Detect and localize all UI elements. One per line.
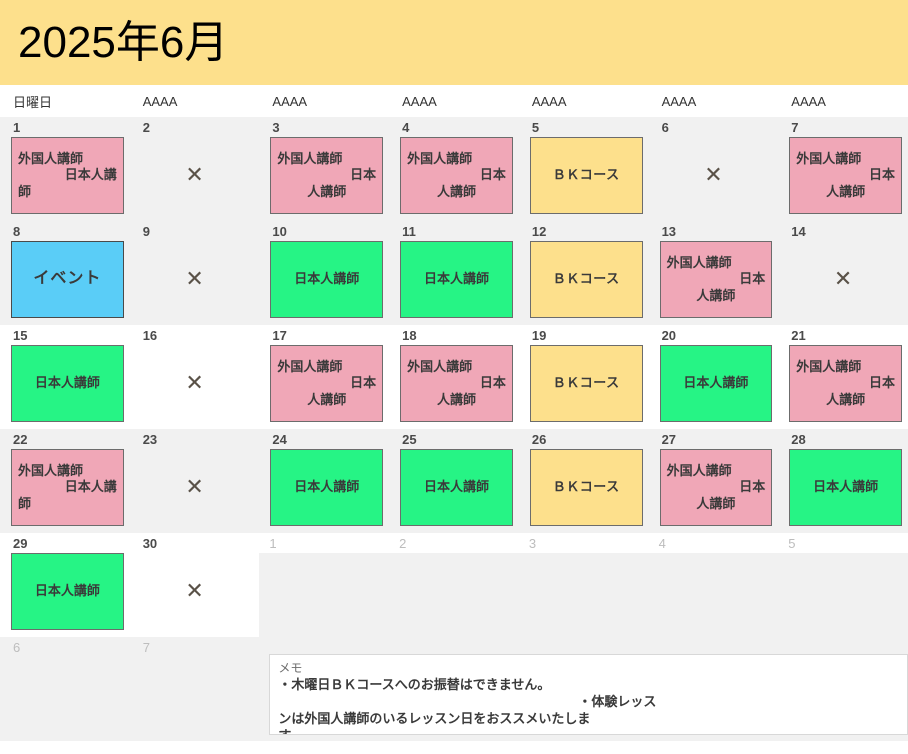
event-line: 日本 xyxy=(796,167,895,184)
event-block[interactable]: ＢＫコース xyxy=(530,449,643,526)
event-line: 日本人講師 xyxy=(277,271,376,288)
day-number: 15 xyxy=(3,325,127,345)
event-line: 日本 xyxy=(667,271,766,288)
calendar-grid: 1外国人講師日本人講師2✕3外国人講師日本人講師4外国人講師日本人講師5ＢＫコー… xyxy=(0,117,908,741)
event-block[interactable]: 外国人講師日本人講師 xyxy=(400,345,513,422)
memo-line: ・体験レッス xyxy=(278,693,656,710)
day-cell-30[interactable]: 30✕ xyxy=(130,533,260,637)
event-line: 外国人講師 xyxy=(667,255,766,272)
event-block[interactable]: 外国人講師日本人講師 xyxy=(270,137,383,214)
day-number: 6 xyxy=(3,637,127,657)
day-number: 24 xyxy=(262,429,386,449)
day-number: 27 xyxy=(652,429,776,449)
event-block[interactable]: 日本人講師 xyxy=(11,345,124,422)
page-title: 2025年6月 xyxy=(18,21,228,65)
event-line: 日本 xyxy=(277,375,376,392)
event-line: 人講師 xyxy=(796,392,895,409)
event-block[interactable]: 外国人講師日本人講師 xyxy=(11,137,124,214)
close-icon: ✕ xyxy=(185,164,203,186)
day-number: 6 xyxy=(652,117,776,137)
event-block[interactable]: 日本人講師 xyxy=(660,345,773,422)
memo-label: メモ xyxy=(278,661,899,676)
event-block[interactable]: 日本人講師 xyxy=(270,241,383,318)
day-cell-16[interactable]: 16✕ xyxy=(130,325,260,429)
weekday-header-4: AAAA xyxy=(519,85,649,117)
day-number: 10 xyxy=(262,221,386,241)
closed-day-marker: ✕ xyxy=(652,137,776,221)
memo-box[interactable]: メモ・木曜日ＢＫコースへのお振替はできません。・体験レッスンは外国人講師のいるレ… xyxy=(269,654,908,735)
event-line: 日本人講師 xyxy=(18,583,117,600)
event-block[interactable]: ＢＫコース xyxy=(530,137,643,214)
event-line: 日本人講師 xyxy=(667,375,766,392)
weekday-header-6: AAAA xyxy=(778,85,908,117)
event-line: 人講師 xyxy=(796,184,895,201)
event-block[interactable]: 外国人講師日本人講師 xyxy=(270,345,383,422)
closed-day-marker: ✕ xyxy=(133,345,257,429)
memo-line: す。 xyxy=(278,727,656,735)
close-icon: ✕ xyxy=(185,476,203,498)
event-line: 外国人講師 xyxy=(18,151,117,168)
closed-day-marker: ✕ xyxy=(133,553,257,637)
day-number: 4 xyxy=(392,117,516,137)
event-line: 外国人講師 xyxy=(796,151,895,168)
event-line: 日本 xyxy=(667,479,766,496)
next-month-fill xyxy=(778,553,908,637)
day-number: 2 xyxy=(389,533,519,553)
day-number: 1 xyxy=(3,117,127,137)
event-line: 外国人講師 xyxy=(667,463,766,480)
calendar-week-row: 29日本人講師30✕12345 xyxy=(0,533,908,637)
day-cell-28[interactable]: 28日本人講師 xyxy=(778,429,908,533)
day-number: 29 xyxy=(3,533,127,553)
day-cell-17[interactable]: 17外国人講師日本人講師 xyxy=(259,325,389,429)
close-icon: ✕ xyxy=(185,580,203,602)
day-cell-9[interactable]: 9✕ xyxy=(130,221,260,325)
day-number: 4 xyxy=(649,533,779,553)
next-month-day-cell-3[interactable]: 3 xyxy=(519,533,649,637)
event-line: 外国人講師 xyxy=(18,463,117,480)
closed-day-marker: ✕ xyxy=(133,449,257,533)
day-number: 17 xyxy=(262,325,386,345)
day-number: 11 xyxy=(392,221,516,241)
day-cell-24[interactable]: 24日本人講師 xyxy=(259,429,389,533)
event-line: 外国人講師 xyxy=(407,359,506,376)
day-cell-11[interactable]: 11日本人講師 xyxy=(389,221,519,325)
event-line: 外国人講師 xyxy=(277,359,376,376)
day-cell-10[interactable]: 10日本人講師 xyxy=(259,221,389,325)
calendar-week-row: 22外国人講師日本人講師23✕24日本人講師25日本人講師26ＢＫコース27外国… xyxy=(0,429,908,533)
day-number: 1 xyxy=(259,533,389,553)
event-block[interactable]: ＢＫコース xyxy=(530,241,643,318)
day-number: 7 xyxy=(133,637,257,657)
day-cell-18[interactable]: 18外国人講師日本人講師 xyxy=(389,325,519,429)
event-line: ＢＫコース xyxy=(537,375,636,392)
close-icon: ✕ xyxy=(185,372,203,394)
day-cell-21[interactable]: 21外国人講師日本人講師 xyxy=(778,325,908,429)
event-line: 師 xyxy=(18,496,117,513)
event-block[interactable]: イベント xyxy=(11,241,124,318)
calendar-week-row: 15日本人講師16✕17外国人講師日本人講師18外国人講師日本人講師19ＢＫコー… xyxy=(0,325,908,429)
event-line: 人講師 xyxy=(667,496,766,513)
weekday-header-2: AAAA xyxy=(259,85,389,117)
day-number: 20 xyxy=(652,325,776,345)
day-cell-27[interactable]: 27外国人講師日本人講師 xyxy=(649,429,779,533)
event-line: 日本人講 xyxy=(18,167,117,184)
event-block[interactable]: 外国人講師日本人講師 xyxy=(660,449,773,526)
event-line: 日本 xyxy=(796,375,895,392)
next-month-day-cell-7[interactable]: 7 xyxy=(130,637,260,741)
day-number: 14 xyxy=(781,221,905,241)
event-line: ＢＫコース xyxy=(537,479,636,496)
event-line: 日本人講師 xyxy=(277,479,376,496)
day-cell-19[interactable]: 19ＢＫコース xyxy=(519,325,649,429)
day-cell-5[interactable]: 5ＢＫコース xyxy=(519,117,649,221)
event-line: 日本人講師 xyxy=(407,479,506,496)
event-block[interactable]: 日本人講師 xyxy=(400,241,513,318)
next-month-day-cell-6[interactable]: 6 xyxy=(0,637,130,741)
day-number: 18 xyxy=(392,325,516,345)
next-month-day-cell-1[interactable]: 1 xyxy=(259,533,389,637)
calendar-week-row: 8イベント9✕10日本人講師11日本人講師12ＢＫコース13外国人講師日本人講師… xyxy=(0,221,908,325)
day-number: 22 xyxy=(3,429,127,449)
event-line: 日本人講師 xyxy=(18,375,117,392)
day-cell-4[interactable]: 4外国人講師日本人講師 xyxy=(389,117,519,221)
event-block[interactable]: ＢＫコース xyxy=(530,345,643,422)
event-line: 師 xyxy=(18,184,117,201)
event-line: 外国人講師 xyxy=(796,359,895,376)
event-block[interactable]: 日本人講師 xyxy=(270,449,383,526)
memo-week-row: 67メモ・木曜日ＢＫコースへのお振替はできません。・体験レッスンは外国人講師のい… xyxy=(0,637,908,741)
day-cell-29[interactable]: 29日本人講師 xyxy=(0,533,130,637)
day-number: 3 xyxy=(262,117,386,137)
close-icon: ✕ xyxy=(834,268,852,290)
day-cell-20[interactable]: 20日本人講師 xyxy=(649,325,779,429)
closed-day-marker: ✕ xyxy=(133,241,257,325)
next-month-fill xyxy=(389,553,519,637)
event-line: 人講師 xyxy=(277,392,376,409)
event-line: 日本人講師 xyxy=(407,271,506,288)
day-cell-13[interactable]: 13外国人講師日本人講師 xyxy=(649,221,779,325)
calendar-week-row: 1外国人講師日本人講師2✕3外国人講師日本人講師4外国人講師日本人講師5ＢＫコー… xyxy=(0,117,908,221)
day-cell-25[interactable]: 25日本人講師 xyxy=(389,429,519,533)
event-line: 人講師 xyxy=(277,184,376,201)
next-month-fill xyxy=(519,553,649,637)
day-number: 5 xyxy=(778,533,908,553)
day-cell-8[interactable]: 8イベント xyxy=(0,221,130,325)
day-number: 2 xyxy=(133,117,257,137)
event-block[interactable]: 外国人講師日本人講師 xyxy=(789,137,902,214)
event-line: 人講師 xyxy=(667,288,766,305)
day-cell-1[interactable]: 1外国人講師日本人講師 xyxy=(0,117,130,221)
day-number: 12 xyxy=(522,221,646,241)
day-cell-14[interactable]: 14✕ xyxy=(778,221,908,325)
day-cell-15[interactable]: 15日本人講師 xyxy=(0,325,130,429)
event-line: 日本 xyxy=(407,167,506,184)
event-line: 人講師 xyxy=(407,184,506,201)
day-cell-22[interactable]: 22外国人講師日本人講師 xyxy=(0,429,130,533)
event-line: イベント xyxy=(18,269,117,289)
weekday-header-0: 日曜日 xyxy=(0,85,130,117)
day-cell-2[interactable]: 2✕ xyxy=(130,117,260,221)
day-number: 30 xyxy=(133,533,257,553)
weekday-header-row: 日曜日 AAAA AAAA AAAA AAAA AAAA AAAA xyxy=(0,85,908,117)
day-number: 21 xyxy=(781,325,905,345)
day-cell-6[interactable]: 6✕ xyxy=(649,117,779,221)
next-month-day-cell-2[interactable]: 2 xyxy=(389,533,519,637)
day-number: 19 xyxy=(522,325,646,345)
day-number: 26 xyxy=(522,429,646,449)
event-block[interactable]: 外国人講師日本人講師 xyxy=(660,241,773,318)
close-icon: ✕ xyxy=(185,268,203,290)
memo-text: ・木曜日ＢＫコースへのお振替はできません。・体験レッスンは外国人講師のいるレッス… xyxy=(278,676,656,735)
day-cell-12[interactable]: 12ＢＫコース xyxy=(519,221,649,325)
event-block[interactable]: 日本人講師 xyxy=(789,449,902,526)
next-month-day-cell-4[interactable]: 4 xyxy=(649,533,779,637)
next-month-fill xyxy=(649,553,779,637)
event-block[interactable]: 日本人講師 xyxy=(400,449,513,526)
weekday-header-1: AAAA xyxy=(130,85,260,117)
calendar-title-band: 2025年6月 xyxy=(0,0,908,85)
weekday-header-5: AAAA xyxy=(649,85,779,117)
day-cell-23[interactable]: 23✕ xyxy=(130,429,260,533)
event-line: 日本 xyxy=(277,167,376,184)
closed-day-marker: ✕ xyxy=(133,137,257,221)
day-cell-26[interactable]: 26ＢＫコース xyxy=(519,429,649,533)
day-number: 25 xyxy=(392,429,516,449)
day-number: 8 xyxy=(3,221,127,241)
closed-day-marker: ✕ xyxy=(781,241,905,325)
next-month-day-cell-5[interactable]: 5 xyxy=(778,533,908,637)
day-number: 3 xyxy=(519,533,649,553)
event-line: 日本人講師 xyxy=(796,479,895,496)
event-line: 外国人講師 xyxy=(407,151,506,168)
event-line: 日本人講 xyxy=(18,479,117,496)
day-number: 5 xyxy=(522,117,646,137)
event-line: ＢＫコース xyxy=(537,271,636,288)
day-number: 23 xyxy=(133,429,257,449)
memo-line: ・木曜日ＢＫコースへのお振替はできません。 xyxy=(278,676,656,693)
event-line: 人講師 xyxy=(407,392,506,409)
event-line: 外国人講師 xyxy=(277,151,376,168)
day-number: 13 xyxy=(652,221,776,241)
event-line: ＢＫコース xyxy=(537,167,636,184)
day-cell-3[interactable]: 3外国人講師日本人講師 xyxy=(259,117,389,221)
event-block[interactable]: 外国人講師日本人講師 xyxy=(400,137,513,214)
day-number: 7 xyxy=(781,117,905,137)
memo-line: ンは外国人講師のいるレッスン日をおススメいたしま xyxy=(278,710,656,727)
event-line: 日本 xyxy=(407,375,506,392)
weekday-header-3: AAAA xyxy=(389,85,519,117)
day-number: 16 xyxy=(133,325,257,345)
day-number: 28 xyxy=(781,429,905,449)
next-month-fill xyxy=(259,553,389,637)
close-icon: ✕ xyxy=(704,164,722,186)
day-number: 9 xyxy=(133,221,257,241)
day-cell-7[interactable]: 7外国人講師日本人講師 xyxy=(778,117,908,221)
event-block[interactable]: 日本人講師 xyxy=(11,553,124,630)
event-block[interactable]: 外国人講師日本人講師 xyxy=(11,449,124,526)
event-block[interactable]: 外国人講師日本人講師 xyxy=(789,345,902,422)
